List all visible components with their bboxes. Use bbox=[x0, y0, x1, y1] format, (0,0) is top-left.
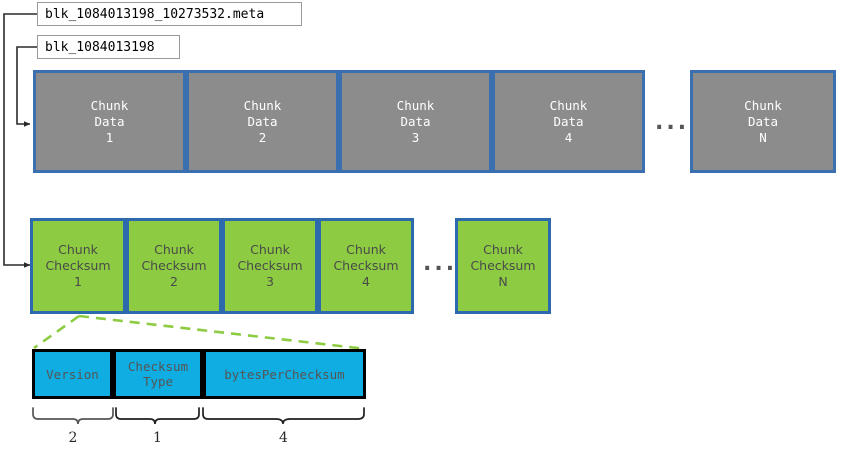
header-field-bytes-per-checksum-label: bytesPerChecksum bbox=[224, 367, 344, 382]
chunk-data-line2: Data bbox=[247, 114, 277, 130]
chunk-data-line1: Chunk bbox=[744, 98, 782, 114]
chunk-checksum-box-1: Chunk Checksum 1 bbox=[30, 218, 126, 314]
chunk-data-line1: Chunk bbox=[550, 98, 588, 114]
chunk-checksum-index: N bbox=[498, 274, 507, 290]
chunk-checksum-ellipsis: ... bbox=[423, 253, 457, 275]
header-field-version: Version bbox=[32, 349, 113, 399]
size-brace-checksum-type bbox=[116, 408, 199, 424]
chunk-checksum-line1: Chunk bbox=[250, 242, 290, 258]
chunk-checksum-line1: Chunk bbox=[346, 242, 386, 258]
chunk-checksum-box-n: Chunk Checksum N bbox=[455, 218, 551, 314]
chunk-data-index: 3 bbox=[412, 130, 420, 146]
chunk-data-box-n: Chunk Data N bbox=[690, 70, 836, 173]
chunk-checksum-line2: Checksum bbox=[45, 258, 110, 274]
chunk-data-index: 4 bbox=[565, 130, 573, 146]
chunk-checksum-box-3: Chunk Checksum 3 bbox=[222, 218, 318, 314]
chunk-checksum-line2: Checksum bbox=[333, 258, 398, 274]
chunk-data-box-2: Chunk Data 2 bbox=[186, 70, 339, 173]
chunk-data-box-4: Chunk Data 4 bbox=[492, 70, 645, 173]
size-label-version-value: 2 bbox=[69, 430, 78, 446]
chunk-data-line2: Data bbox=[748, 114, 778, 130]
chunk-checksum-line1: Chunk bbox=[483, 242, 523, 258]
size-label-version: 2 bbox=[33, 430, 113, 446]
diagram-canvas: blk_1084013198_10273532.meta blk_1084013… bbox=[0, 0, 847, 450]
chunk-data-index: 1 bbox=[106, 130, 114, 146]
chunk-data-line2: Data bbox=[400, 114, 430, 130]
chunk-data-box-3: Chunk Data 3 bbox=[339, 70, 492, 173]
chunk-checksum-box-4: Chunk Checksum 4 bbox=[318, 218, 414, 314]
chunk-checksum-line2: Checksum bbox=[237, 258, 302, 274]
chunk-checksum-line1: Chunk bbox=[154, 242, 194, 258]
header-field-checksum-type: Checksum Type bbox=[113, 349, 203, 399]
header-field-version-label: Version bbox=[46, 367, 99, 382]
size-label-bytes-per-checksum-value: 4 bbox=[279, 430, 288, 446]
chunk-checksum-index: 4 bbox=[362, 274, 370, 290]
size-label-checksum-type-value: 1 bbox=[153, 430, 162, 446]
chunk-data-line2: Data bbox=[94, 114, 124, 130]
size-brace-bytes-per-checksum bbox=[203, 408, 364, 424]
callout-meta-file-label: blk_1084013198_10273532.meta bbox=[45, 7, 264, 22]
chunk-checksum-line1: Chunk bbox=[58, 242, 98, 258]
header-field-bytes-per-checksum: bytesPerChecksum bbox=[203, 349, 366, 399]
size-brace-version bbox=[33, 408, 113, 424]
expansion-guide-left bbox=[34, 316, 79, 348]
callout-block-file-label: blk_1084013198 bbox=[45, 40, 155, 55]
chunk-checksum-index: 2 bbox=[170, 274, 178, 290]
chunk-checksum-index: 3 bbox=[266, 274, 274, 290]
header-field-checksum-type-label-line1: Checksum bbox=[128, 359, 188, 374]
chunk-data-box-1: Chunk Data 1 bbox=[33, 70, 186, 173]
size-label-checksum-type: 1 bbox=[116, 430, 199, 446]
callout-meta-file-name: blk_1084013198_10273532.meta bbox=[37, 2, 302, 26]
chunk-checksum-box-2: Chunk Checksum 2 bbox=[126, 218, 222, 314]
chunk-data-line1: Chunk bbox=[91, 98, 129, 114]
chunk-data-index: N bbox=[759, 130, 767, 146]
callout-block-file-name: blk_1084013198 bbox=[37, 35, 180, 59]
chunk-data-index: 2 bbox=[259, 130, 267, 146]
chunk-checksum-line2: Checksum bbox=[141, 258, 206, 274]
size-label-bytes-per-checksum: 4 bbox=[203, 430, 364, 446]
chunk-checksum-index: 1 bbox=[74, 274, 82, 290]
chunk-checksum-line2: Checksum bbox=[470, 258, 535, 274]
chunk-data-line2: Data bbox=[553, 114, 583, 130]
chunk-data-ellipsis: ... bbox=[655, 112, 689, 134]
chunk-data-line1: Chunk bbox=[244, 98, 282, 114]
chunk-data-line1: Chunk bbox=[397, 98, 435, 114]
header-field-checksum-type-label-line2: Type bbox=[143, 374, 173, 389]
expansion-guide-right bbox=[79, 316, 366, 349]
